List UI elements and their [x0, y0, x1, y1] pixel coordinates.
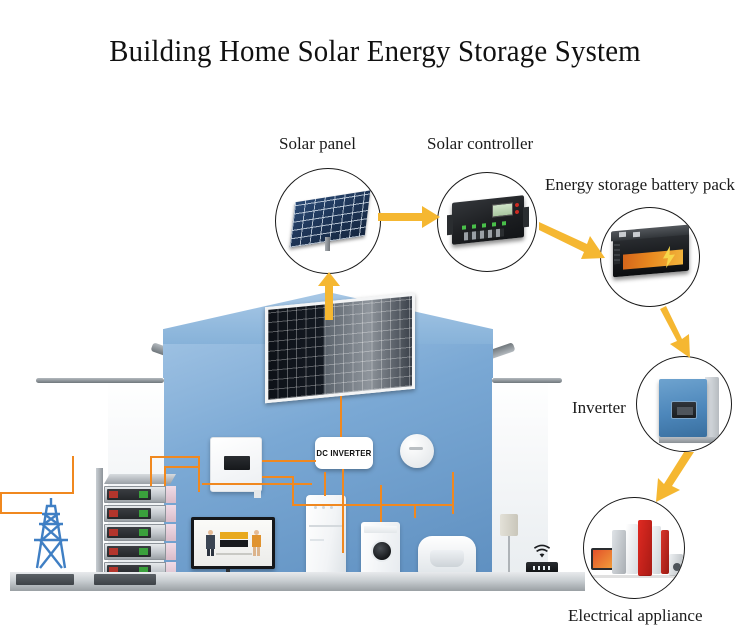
appliance-washer-drum-1 — [673, 563, 681, 571]
house-illustration: DC INVERTER — [118, 300, 538, 590]
battery-module — [104, 505, 166, 522]
wall-inverter-conduit — [254, 490, 261, 498]
tv-banner — [220, 532, 248, 548]
callout-solar-panel — [275, 168, 381, 274]
appliance-cabinet — [652, 526, 661, 574]
solar-controller-label: Solar controller — [427, 134, 533, 154]
dc-inverter-label: DC INVERTER — [316, 448, 371, 458]
ground-shadow-left — [16, 574, 74, 585]
wifi-signal-icon — [533, 543, 551, 559]
appliance-fridge-red — [638, 520, 652, 576]
appliance-fridge-gray — [612, 530, 626, 574]
callout-electrical-appliance — [583, 497, 685, 599]
battery-pack-label: Energy storage battery pack — [545, 175, 735, 195]
arrow-controller-to-battery — [539, 218, 605, 262]
eave-right — [492, 378, 562, 383]
inverter-side-panel — [705, 377, 719, 439]
floor-lamp-shade — [500, 514, 518, 536]
controller-lcd — [492, 202, 513, 217]
washing-machine-drum — [371, 540, 393, 562]
arrow-battery-to-inverter — [658, 306, 696, 358]
wire-rack-drop-2 — [164, 466, 166, 486]
wall-inverter-display — [224, 456, 250, 470]
appliance-fridge-red-2 — [661, 530, 669, 574]
solar-panel-label: Solar panel — [279, 134, 356, 154]
wire-grid-feed-3 — [0, 512, 42, 514]
wire-to-rack-1 — [198, 456, 200, 492]
inverter-display — [671, 401, 697, 419]
arrow-roofpanel-to-solarpanel — [318, 272, 340, 320]
washing-machine — [361, 522, 400, 575]
power-pylon-icon — [28, 496, 74, 570]
battery-rack — [104, 474, 176, 578]
battery-pack-handle — [614, 242, 620, 265]
callout-battery-pack — [600, 207, 700, 307]
washing-machine-panel — [364, 526, 397, 533]
arrow-panel-to-controller — [378, 206, 440, 228]
battery-module — [104, 524, 166, 541]
roof-solar-panel-cells — [268, 296, 412, 400]
television — [191, 517, 275, 569]
solar-panel-icon — [290, 190, 371, 247]
wire-rack-feed-2 — [164, 466, 200, 468]
inverter-base — [659, 437, 719, 443]
wire-rack-feed-1 — [150, 456, 200, 458]
wire-rack-drop-1 — [150, 456, 152, 486]
wire-to-washer — [380, 485, 382, 522]
floor-lamp-pole — [508, 536, 510, 576]
electrical-appliance-label: Electrical appliance — [568, 606, 703, 626]
page-title: Building Home Solar Energy Storage Syste… — [26, 33, 724, 69]
television-screen — [194, 520, 272, 566]
wire-to-lamp-top — [452, 472, 454, 506]
refrigerator — [306, 495, 346, 575]
wire-right-riser — [452, 504, 454, 510]
wire-bottom-bus — [292, 504, 454, 506]
wire-grid-left-1 — [72, 456, 74, 492]
wire-dcbox-left-1 — [262, 460, 316, 462]
tv-person-left — [206, 530, 215, 556]
ground-shadow-mid — [94, 574, 156, 585]
armchair — [418, 536, 476, 576]
roof-solar-panel — [265, 293, 415, 403]
inverter-label: Inverter — [572, 398, 626, 418]
diagram-canvas: Building Home Solar Energy Storage Syste… — [0, 0, 750, 630]
wire-dcbox-left-2 — [262, 476, 294, 478]
controller-terminals — [464, 228, 504, 240]
callout-inverter — [636, 356, 732, 452]
battery-module — [104, 486, 166, 503]
wire-grid-feed — [0, 492, 74, 494]
lightning-bolt-icon — [661, 245, 677, 268]
solar-panel-mount — [325, 237, 330, 251]
appliance-fridge-white — [626, 524, 638, 574]
wire-to-fridge — [324, 472, 326, 496]
dc-inverter-box: DC INVERTER — [315, 437, 373, 469]
arrow-inverter-to-appliance — [650, 452, 698, 506]
solar-controller-icon — [452, 195, 524, 245]
callout-solar-controller — [437, 172, 537, 272]
wire-grid-feed-2 — [0, 492, 2, 514]
rack-support-post — [96, 468, 103, 580]
wire-bus-drop-a — [292, 476, 294, 506]
wire-bus-horizontal — [202, 483, 312, 485]
wire-roof-to-dcbox — [340, 396, 342, 437]
wire-dcbox-down — [342, 469, 344, 553]
eave-left — [36, 378, 164, 383]
battery-module — [104, 543, 166, 560]
wire-router-branch — [414, 504, 416, 518]
appliance-base-shadow — [590, 575, 680, 578]
tv-person-right — [252, 530, 261, 556]
smoke-detector — [400, 434, 434, 468]
